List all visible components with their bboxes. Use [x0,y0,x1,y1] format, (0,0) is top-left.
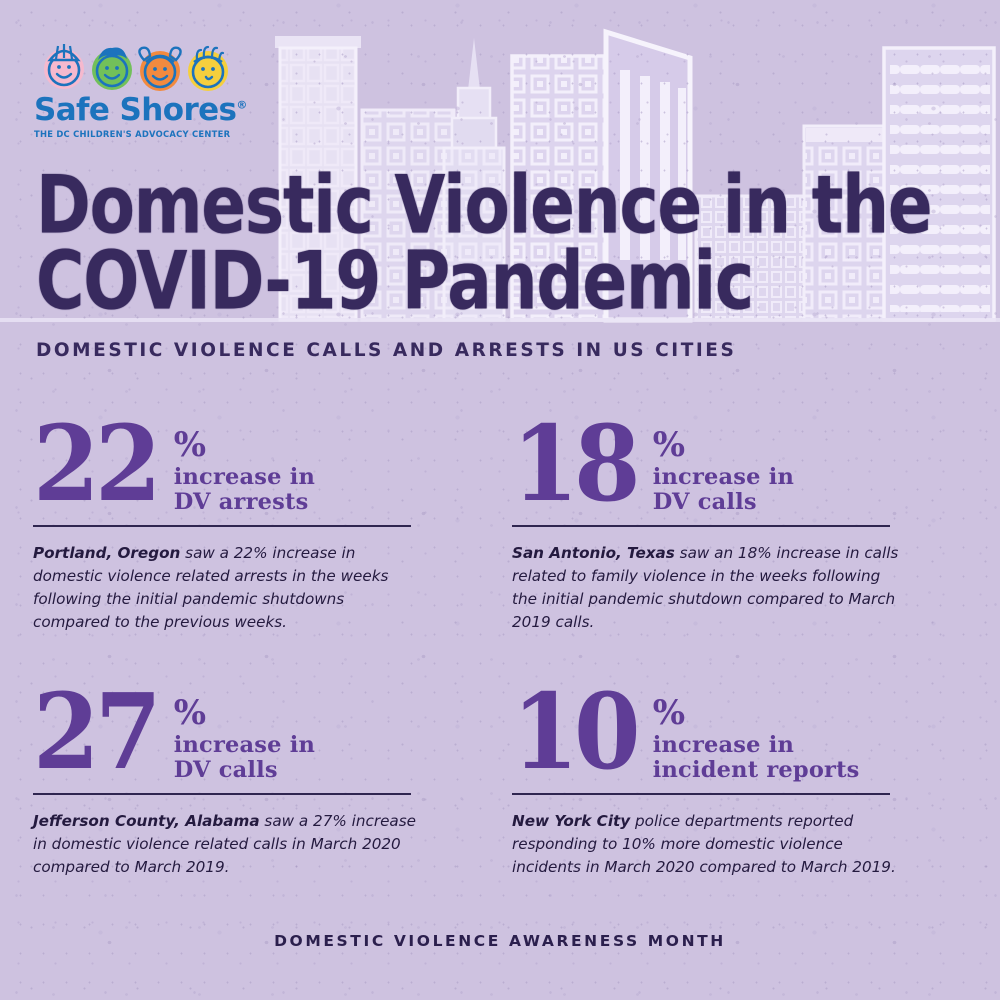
registered-trademark-icon: ® [236,99,246,112]
stat-description: New York City police departments reporte… [512,810,904,879]
percent-symbol: % [174,700,315,727]
logo-name: Safe Shores [34,92,236,128]
stat-divider [512,525,890,527]
face-yellow-icon [188,47,228,91]
stat-card-portland: 22 % increase in DV arrests Portland, Or… [33,428,433,634]
stat-unit-line-2: DV calls [174,758,315,783]
percent-symbol: % [653,700,860,727]
stat-city-name: San Antonio, Texas [512,544,675,562]
page-subtitle: DOMESTIC VIOLENCE CALLS AND ARRESTS IN U… [36,340,736,361]
stat-city-name: New York City [512,812,630,830]
stat-divider [512,793,890,795]
stat-headline-group: 10 % increase in incident reports [512,696,912,792]
stat-description: Jefferson County, Alabama saw a 27% incr… [33,810,425,879]
stat-description: San Antonio, Texas saw an 18% increase i… [512,542,904,634]
face-pink-icon [44,44,84,89]
page-title-line-2: COVID-19 Pandemic [36,244,936,320]
stat-unit-label: increase in DV arrests [174,465,315,515]
stat-headline-group: 27 % increase in DV calls [33,696,433,792]
stat-card-san-antonio: 18 % increase in DV calls San Antonio, T… [512,428,912,634]
stat-unit-line-1: increase in [174,465,315,490]
stat-unit-label: increase in incident reports [653,733,860,783]
stat-city-name: Jefferson County, Alabama [33,812,260,830]
stat-card-jefferson-county: 27 % increase in DV calls Jefferson Coun… [33,696,433,879]
face-green-icon [92,47,132,90]
page-title-line-1: Domestic Violence in the [36,168,936,244]
stat-card-new-york-city: 10 % increase in incident reports New Yo… [512,696,912,879]
stat-unit-line-2: DV calls [653,490,794,515]
stat-unit-line-2: incident reports [653,758,860,783]
stat-number: 27 [33,688,157,776]
stat-city-name: Portland, Oregon [33,544,180,562]
stat-headline-group: 18 % increase in DV calls [512,428,912,524]
stat-unit-line-1: increase in [174,733,315,758]
percent-symbol: % [653,432,794,459]
stat-unit-line-1: increase in [653,733,860,758]
logo-tagline: THE DC CHILDREN'S ADVOCACY CENTER [34,129,249,139]
stat-unit-group: % increase in DV calls [174,700,315,784]
face-orange-icon [139,48,180,91]
stat-unit-label: increase in DV calls [174,733,315,783]
stat-description: Portland, Oregon saw a 22% increase in d… [33,542,425,634]
infographic-page: Safe Shores® THE DC CHILDREN'S ADVOCACY … [0,0,1000,1000]
footer-awareness-month: DOMESTIC VIOLENCE AWARENESS MONTH [0,932,1000,950]
stat-unit-group: % increase in incident reports [653,700,860,784]
stat-number: 22 [33,420,157,508]
stat-unit-group: % increase in DV calls [653,432,794,516]
stat-unit-label: increase in DV calls [653,465,794,515]
percent-symbol: % [174,432,315,459]
stat-number: 10 [512,688,636,776]
stat-headline-group: 22 % increase in DV arrests [33,428,433,524]
stat-divider [33,793,411,795]
logo-wordmark: Safe Shores® [34,95,249,126]
stat-unit-group: % increase in DV arrests [174,432,315,516]
stat-number: 18 [512,420,636,508]
stat-divider [33,525,411,527]
page-title: Domestic Violence in the COVID-19 Pandem… [36,168,936,319]
stat-unit-line-1: increase in [653,465,794,490]
stat-unit-line-2: DV arrests [174,490,315,515]
safe-shores-logo[interactable]: Safe Shores® THE DC CHILDREN'S ADVOCACY … [34,36,249,139]
logo-children-faces-icon [34,36,249,92]
